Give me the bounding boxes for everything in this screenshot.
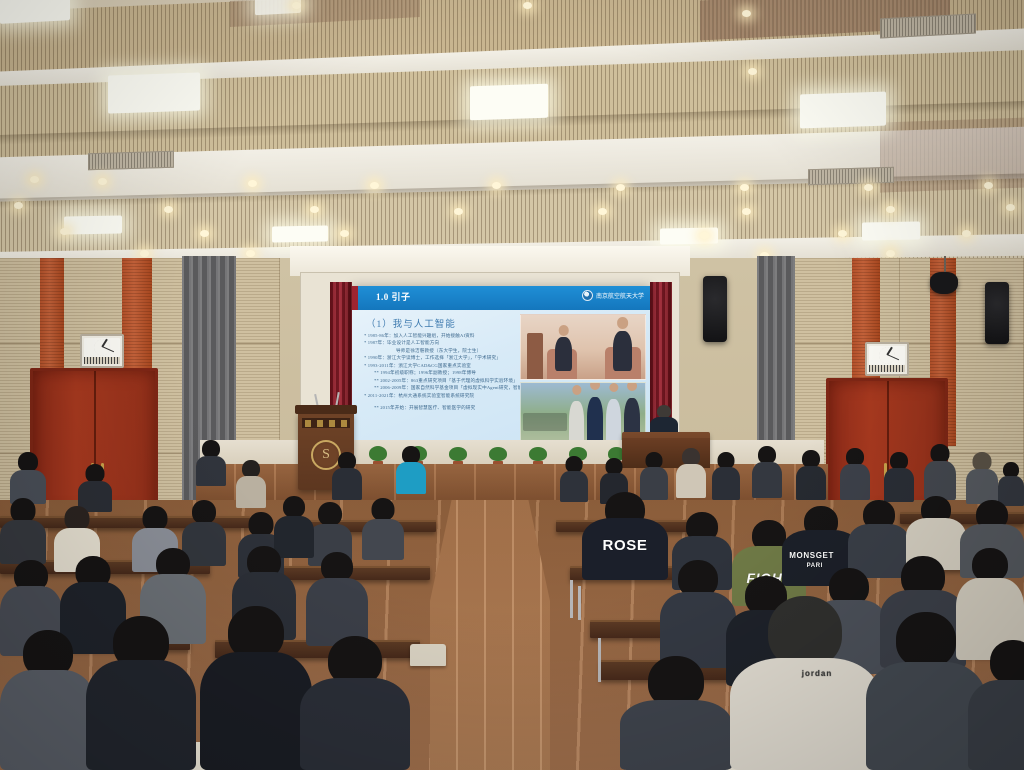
slide-bullet: ** 1994年初级职称；1996年副教授；1998年博导 — [364, 369, 512, 376]
presentation-slide: 1.0 引子 南京航空航天大学 （1）我与人工智能 * 1985-86年：加入人… — [352, 286, 650, 454]
audience-person — [660, 560, 736, 668]
ceiling-panel-light — [862, 221, 920, 240]
ceiling-downlight — [740, 184, 749, 191]
slide-title: 1.0 引子 — [376, 290, 411, 303]
slide-bullet: * 1990年：浙江大学读博士，工作选择「浙江大学」，「学术研究」 — [364, 354, 512, 361]
air-vent — [88, 151, 174, 171]
ceiling-downlight — [98, 178, 107, 185]
slide-bullet: ** 2002-2005年：863重点研究项目「基于代理的虚拟科学实验环境」 — [364, 377, 512, 384]
audience-person — [78, 464, 112, 512]
audience-person — [332, 452, 362, 500]
clock-digital-dial — [869, 365, 905, 372]
audience-person — [840, 448, 870, 500]
photo-person-head — [572, 385, 581, 394]
ceiling-downlight — [748, 68, 757, 75]
ceiling-downlight — [30, 176, 39, 183]
clock-face — [84, 338, 120, 357]
ceiling-panel-light — [0, 0, 70, 24]
center-aisle — [430, 500, 550, 770]
wall-speaker-left — [703, 276, 727, 342]
audience-person — [0, 498, 46, 564]
ceiling-downlight — [962, 230, 971, 237]
ceiling-panel-light — [272, 226, 328, 243]
empty-chair[interactable] — [410, 644, 446, 666]
clock-face — [869, 346, 905, 365]
audience-person — [712, 452, 740, 500]
photo-person-head — [609, 383, 618, 392]
audience-person — [396, 446, 426, 494]
wall-speaker-right — [985, 282, 1009, 344]
audience-person — [362, 498, 404, 560]
plant-foliage — [489, 447, 507, 461]
university-logo-text: 南京航空航天大学 — [596, 291, 644, 300]
audience-person — [200, 606, 312, 770]
slide-bullet: * 2011-2021年：杭州大通系统实验室智能系统研究院 — [364, 392, 512, 399]
audience-person — [236, 460, 266, 508]
ceiling-panel-light — [800, 91, 886, 128]
clock-minute-hand — [102, 346, 114, 352]
audience-person — [86, 616, 196, 770]
photo-person-head — [558, 325, 569, 336]
wall-clock-left — [80, 334, 124, 368]
projection-screen: 1.0 引子 南京航空航天大学 （1）我与人工智能 * 1985-86年：加入人… — [352, 286, 650, 454]
ceiling-panel-light — [660, 227, 718, 244]
lectern-top — [295, 405, 358, 414]
slide-bullet: 导师是徐洁磐教授（东大学生，院士生） — [364, 347, 512, 354]
slide-bullet: * 1987年：毕业设计是人工智能方向 — [364, 339, 512, 346]
photo-background-crowd — [523, 413, 567, 431]
ceiling-downlight — [838, 230, 847, 237]
ceiling-downlight — [370, 182, 379, 189]
jacket-text-rose: ROSE — [603, 537, 648, 554]
audience-person — [968, 640, 1024, 770]
desk-leg — [578, 586, 581, 620]
ceiling-downlight — [246, 250, 255, 257]
university-logo: 南京航空航天大学 — [582, 290, 644, 301]
ceiling-downlight — [886, 250, 895, 257]
clock-digital-dial — [84, 357, 120, 364]
photo-pillar — [527, 333, 543, 380]
ceiling-downlight — [60, 228, 69, 235]
audience-person — [752, 446, 782, 498]
ceiling-panel-light — [64, 215, 122, 234]
photo-person-head — [590, 382, 600, 390]
lectern-plaque — [302, 418, 349, 428]
ceiling-downlight — [864, 184, 873, 191]
slide-bullet: * 1985-86年：加入人工智能兴趣组，开始接触AI资料 — [364, 332, 512, 339]
ceiling-downlight — [742, 208, 751, 215]
ceiling-downlight — [164, 206, 173, 213]
air-vent — [808, 167, 894, 185]
ceiling-downlight — [886, 206, 895, 213]
ceiling-downlight — [616, 184, 625, 191]
ceiling-downlight — [340, 230, 349, 237]
audience-person-jordan: jordan — [730, 596, 880, 770]
desk-leg — [598, 638, 601, 682]
ceiling-downlight — [523, 2, 532, 9]
ceiling-downlight — [742, 10, 751, 17]
wall-panel — [0, 258, 140, 344]
plaque-char — [341, 420, 347, 427]
slide-photo-top — [520, 314, 646, 380]
ceiling-panel-light — [470, 84, 548, 121]
jacket-text-monsget: MONSGET — [789, 551, 834, 560]
slide-bullet: ** 2015年开始：开展智慧医疗、智能医学的研究 — [364, 404, 512, 411]
audience-person — [966, 452, 998, 504]
audience-person-rose: ROSE — [582, 494, 668, 580]
ceiling-downlight — [598, 208, 607, 215]
audience-person — [796, 450, 826, 500]
ceiling-downlight — [140, 250, 149, 257]
audience-person — [924, 444, 956, 500]
ceiling-downlight — [14, 202, 23, 209]
wall-clock-right — [865, 342, 909, 376]
ceiling-downlight — [292, 2, 301, 9]
photo-person — [555, 337, 572, 371]
photo-person — [613, 331, 632, 371]
plant-foliage — [529, 447, 547, 461]
plaque-char — [317, 420, 323, 427]
lecture-hall-photo: 1.0 引子 南京航空航天大学 （1）我与人工智能 * 1985-86年：加入人… — [0, 0, 1024, 770]
slide-bullet-list: * 1985-86年：加入人工智能兴趣组，开始接触AI资料 * 1987年：毕业… — [364, 332, 512, 411]
ceiling-downlight — [1006, 204, 1015, 211]
ceiling-downlight — [984, 182, 993, 189]
ceiling-downlight — [492, 182, 501, 189]
hoodie-text-jordan: jordan — [802, 669, 832, 678]
audience-person — [0, 630, 96, 770]
audience-person — [196, 440, 226, 486]
plant-foliage — [449, 447, 467, 461]
audience-person — [676, 448, 706, 498]
ceiling-downlight — [700, 232, 709, 239]
audience-person — [306, 552, 368, 646]
plaque-char — [305, 420, 311, 427]
audience-person — [884, 452, 914, 502]
slide-bullet: * 1993-2011年：浙江大学CAD&CG国家重点实验室 — [364, 362, 512, 369]
ceiling-projector-icon — [930, 272, 958, 294]
desk-leg — [570, 580, 573, 618]
ceiling-downlight — [248, 180, 257, 187]
ceiling-downlight — [200, 230, 209, 237]
clock-minute-hand — [887, 354, 899, 360]
audience-person — [300, 636, 410, 770]
slide-section-heading: （1）我与人工智能 — [366, 316, 456, 330]
slide-header-bar: 1.0 引子 南京航空航天大学 — [358, 286, 650, 310]
slide-bullet: ** 2006-2009年：国家自然科学基金项目「虚拟现实中Agent研究，智能… — [364, 384, 512, 391]
university-logo-mark — [582, 290, 593, 301]
plaque-char — [329, 420, 335, 427]
ceiling-downlight — [310, 206, 319, 213]
photo-person-head — [627, 382, 637, 391]
ceiling-panel-light — [108, 72, 200, 113]
audience-person — [640, 452, 668, 500]
ceiling-downlight — [454, 208, 463, 215]
photo-person-head — [617, 317, 629, 329]
audience-person — [620, 656, 732, 770]
audience-person — [10, 452, 46, 504]
plant-foliage — [369, 446, 387, 461]
